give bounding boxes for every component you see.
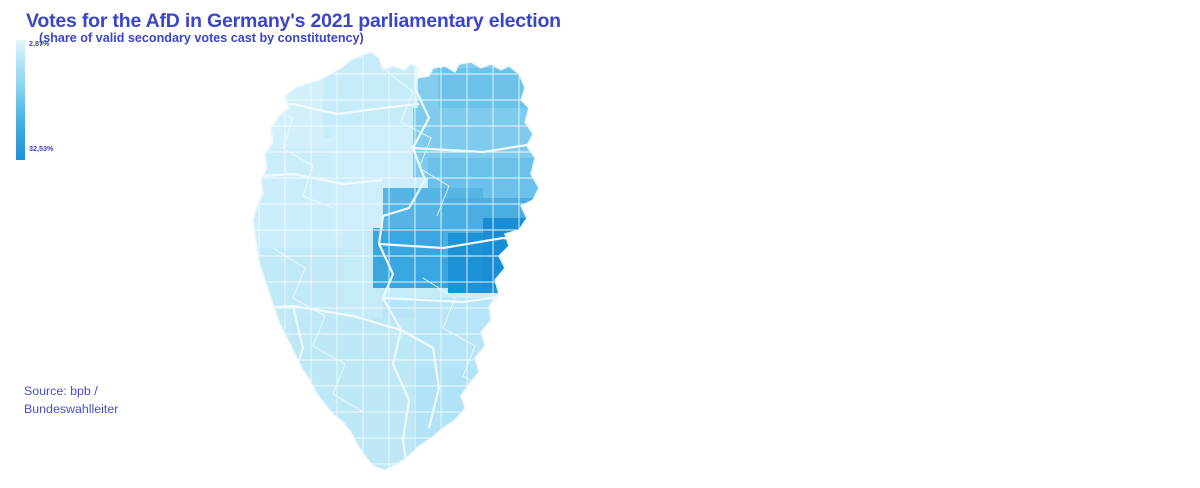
panel-afd-map: Votes for the AfD in Germany's 2021 parl… — [0, 0, 600, 484]
afd-title: Votes for the AfD in Germany's 2021 parl… — [26, 10, 586, 32]
afd-map-regions — [233, 48, 553, 480]
panel-green-map: Votes for the Green Party in Germany's 2… — [600, 0, 1200, 484]
afd-colorbar-gradient — [16, 40, 25, 160]
afd-colorbar-min-label: 2,87% — [29, 39, 49, 48]
afd-colorbar-max-label: 32,53% — [29, 144, 53, 153]
afd-source-note: Source: bpb / Bundeswahlleiter — [24, 383, 118, 419]
afd-colorbar-legend: 2,87% 32,53% — [16, 40, 136, 164]
afd-germany-choropleth-map — [233, 48, 553, 480]
